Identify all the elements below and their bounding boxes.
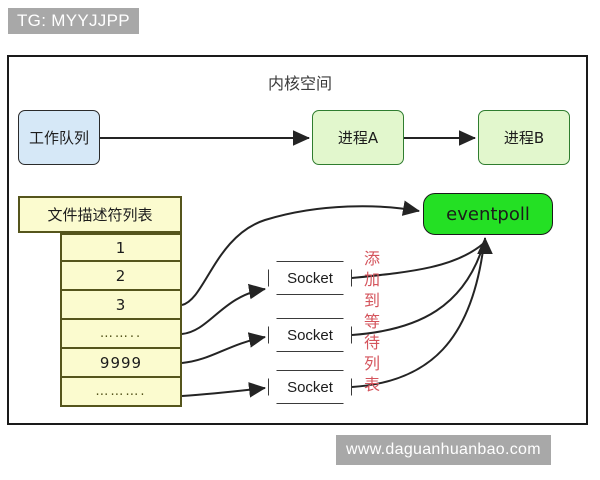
table-row[interactable]: 2 <box>60 262 182 291</box>
node-socket-3[interactable]: Socket <box>268 370 352 404</box>
kernel-space-title: 内核空间 <box>0 70 600 94</box>
table-row[interactable]: 1 <box>60 233 182 262</box>
fd-table-header: 文件描述符列表 <box>18 196 182 233</box>
fd-table-rows: 1 2 3 …….. 9999 ………. <box>60 233 182 407</box>
annotation-char: 列 <box>362 353 382 374</box>
annotation-char: 表 <box>362 374 382 395</box>
annotation-char: 待 <box>362 332 382 353</box>
node-process-a[interactable]: 进程A <box>312 110 404 165</box>
node-socket-2[interactable]: Socket <box>268 318 352 352</box>
node-eventpoll[interactable]: eventpoll <box>423 193 553 235</box>
node-socket-1[interactable]: Socket <box>268 261 352 295</box>
node-work-queue[interactable]: 工作队列 <box>18 110 100 165</box>
annotation-char: 等 <box>362 311 382 332</box>
table-row[interactable]: …….. <box>60 320 182 349</box>
watermark-bottom: www.daguanhuanbao.com <box>336 435 551 465</box>
node-process-b[interactable]: 进程B <box>478 110 570 165</box>
table-row[interactable]: ………. <box>60 378 182 407</box>
annotation-add-to-wait-list: 添 加 到 等 待 列 表 <box>362 248 382 395</box>
annotation-char: 添 <box>362 248 382 269</box>
table-row[interactable]: 3 <box>60 291 182 320</box>
annotation-char: 加 <box>362 269 382 290</box>
annotation-char: 到 <box>362 290 382 311</box>
watermark-top: TG: MYYJJPP <box>8 8 139 34</box>
table-row[interactable]: 9999 <box>60 349 182 378</box>
diagram-canvas: 内核空间 工作队列 进程A 进程B eventpoll 文件描述符列表 1 <box>0 0 600 480</box>
